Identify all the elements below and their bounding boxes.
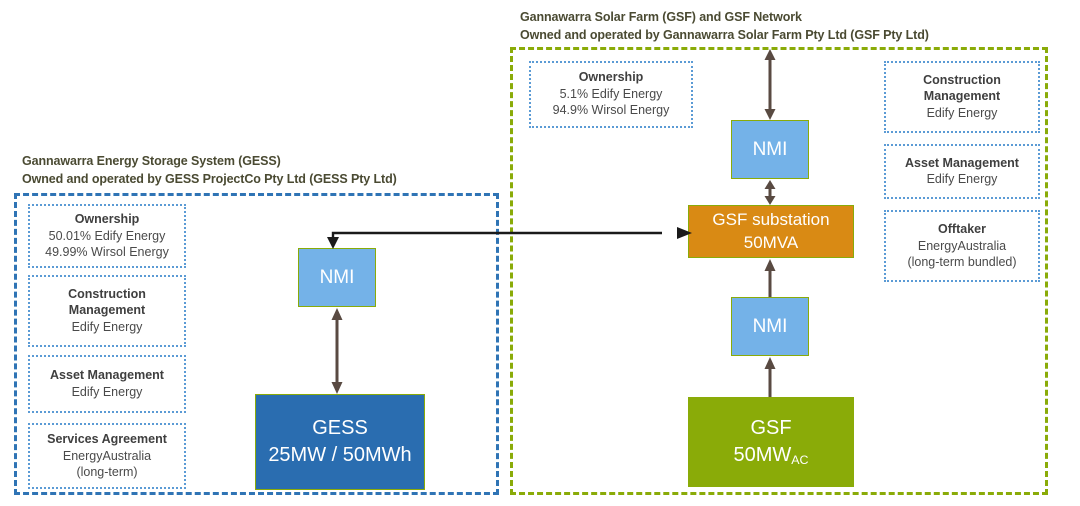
gsf-asset-management-box: Asset Management Edify Energy <box>884 144 1040 199</box>
gsf-ownership-line-1: 5.1% Edify Energy <box>560 86 663 102</box>
gsf-substation-line-1: GSF substation <box>712 209 829 232</box>
gess-ownership-box: Ownership 50.01% Edify Energy 49.99% Wir… <box>28 204 186 268</box>
gess-nmi-label: NMI <box>320 267 355 289</box>
diagram-canvas: Gannawarra Solar Farm (GSF) and GSF Netw… <box>0 0 1080 506</box>
gess-services-agreement-title: Services Agreement <box>47 432 167 448</box>
arrow-nmi-bottom-to-substation <box>764 259 776 297</box>
gess-group-header-line2: Owned and operated by GESS ProjectCo Pty… <box>22 170 397 188</box>
gsf-nmi-top-label: NMI <box>753 139 788 161</box>
gsf-construction-management-title: Construction Management <box>923 73 1001 104</box>
gsf-node-line-1: GSF <box>750 415 791 442</box>
gsf-offtaker-line-1: EnergyAustralia <box>918 238 1006 254</box>
gsf-group-header-line1: Gannawarra Solar Farm (GSF) and GSF Netw… <box>520 8 802 26</box>
gess-group-header-line1: Gannawarra Energy Storage System (GESS) <box>22 152 281 170</box>
gess-nmi-node: NMI <box>298 248 376 307</box>
gess-ownership-title: Ownership <box>75 212 140 228</box>
gsf-group-header-line2: Owned and operated by Gannawarra Solar F… <box>520 26 929 44</box>
gsf-nmi-bottom-label: NMI <box>753 316 788 338</box>
gsf-ownership-box: Ownership 5.1% Edify Energy 94.9% Wirsol… <box>529 61 693 128</box>
gsf-node-line-2-main: 50MW <box>733 444 791 466</box>
arrow-gsf-to-nmi-bottom <box>764 357 776 397</box>
gess-services-agreement-line-2: (long-term) <box>76 464 137 480</box>
gsf-offtaker-line-2: (long-term bundled) <box>907 254 1016 270</box>
gsf-substation-node: GSF substation 50MVA <box>688 205 854 258</box>
gess-asset-management-box: Asset Management Edify Energy <box>28 355 186 413</box>
gsf-offtaker-title: Offtaker <box>938 222 986 238</box>
gsf-nmi-bottom-node: NMI <box>731 297 809 356</box>
gess-asset-management-title: Asset Management <box>50 368 164 384</box>
gsf-asset-management-line-1: Edify Energy <box>927 171 998 187</box>
arrow-gess-nmi-to-gsf-substation <box>325 225 692 249</box>
gsf-node-line-2-subscript: AC <box>791 453 808 467</box>
gess-asset-management-line-1: Edify Energy <box>72 384 143 400</box>
gess-node-line-1: GESS <box>312 415 368 442</box>
gess-services-agreement-line-1: EnergyAustralia <box>63 448 151 464</box>
gsf-ownership-title: Ownership <box>579 70 644 86</box>
gess-construction-management-line-1: Edify Energy <box>72 319 143 335</box>
gsf-node-line-2: 50MWAC <box>733 442 808 469</box>
gsf-construction-management-box: Construction Management Edify Energy <box>884 61 1040 133</box>
gess-ownership-line-1: 50.01% Edify Energy <box>49 228 166 244</box>
gsf-offtaker-box: Offtaker EnergyAustralia (long-term bund… <box>884 210 1040 282</box>
gess-construction-management-box: Construction Management Edify Energy <box>28 275 186 347</box>
gess-node-line-2: 25MW / 50MWh <box>268 442 411 469</box>
gess-node: GESS 25MW / 50MWh <box>255 394 425 490</box>
gsf-node: GSF 50MWAC <box>688 397 854 487</box>
gsf-ownership-line-2: 94.9% Wirsol Energy <box>553 102 670 118</box>
arrow-network-to-nmi-top <box>764 49 776 120</box>
gess-construction-management-title: Construction Management <box>68 287 146 318</box>
gsf-nmi-top-node: NMI <box>731 120 809 179</box>
gsf-substation-line-2: 50MVA <box>744 232 799 255</box>
gess-ownership-line-2: 49.99% Wirsol Energy <box>45 244 169 260</box>
gess-services-agreement-box: Services Agreement EnergyAustralia (long… <box>28 423 186 489</box>
arrow-nmi-top-to-substation <box>764 180 776 205</box>
gsf-construction-management-line-1: Edify Energy <box>927 105 998 121</box>
gsf-asset-management-title: Asset Management <box>905 156 1019 172</box>
arrow-gess-nmi-to-gess <box>331 308 343 394</box>
